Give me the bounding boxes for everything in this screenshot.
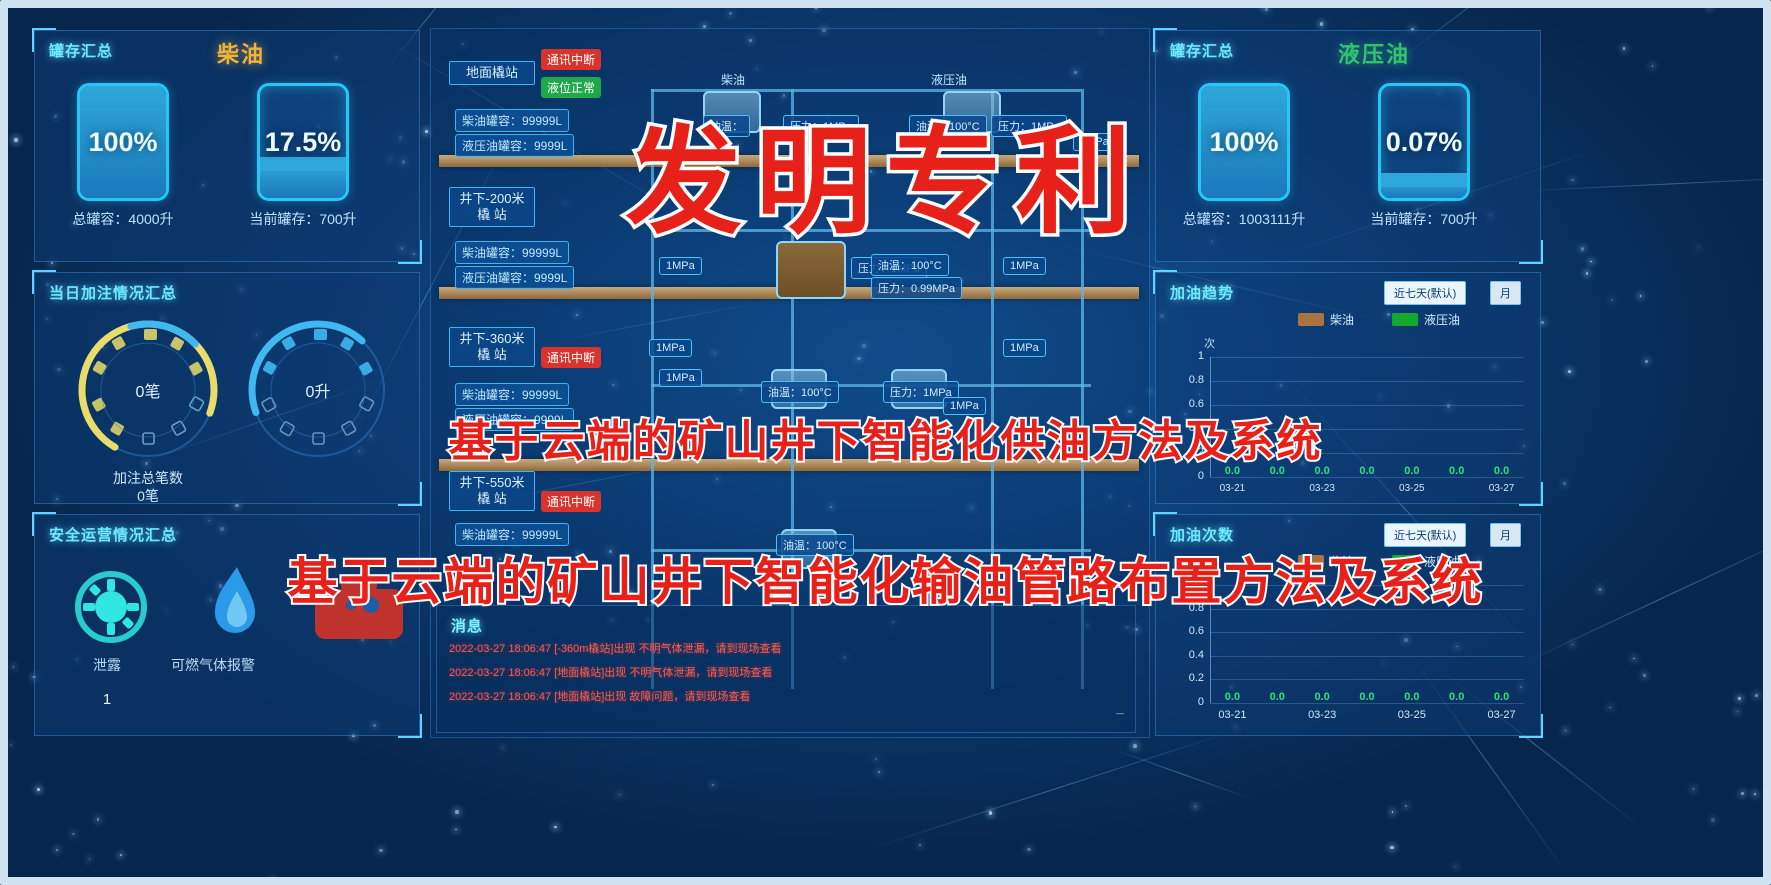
- particle: [1565, 730, 1566, 731]
- station-550m[interactable]: 井下-550米 橇 站: [449, 471, 535, 511]
- particle: [1195, 806, 1196, 807]
- ring-gauge-value: 0笔: [73, 315, 223, 465]
- refuel-summary-label: 加注总笔数: [113, 470, 183, 486]
- particle: [72, 833, 75, 836]
- tank-percent: 0.07%: [1381, 86, 1467, 198]
- tank-shape: 17.5%: [257, 83, 349, 201]
- particle: [1609, 707, 1610, 708]
- station-name: 地面橇站: [449, 61, 535, 85]
- chart-gridline: [1210, 656, 1524, 657]
- tank-shape: 100%: [77, 83, 169, 201]
- particle: [554, 826, 557, 829]
- panel-title-safety: 安全运营情况汇总: [49, 524, 177, 545]
- chart-point-label: 0.0: [1440, 465, 1474, 477]
- panel-title-refuel-trend: 加油趋势: [1170, 282, 1234, 303]
- particle: [1590, 261, 1591, 262]
- pressure-tag-3: 1MPa: [649, 339, 692, 357]
- station-status-comm-0: 通讯中断: [541, 49, 601, 70]
- light-beam: [1108, 747, 1254, 800]
- ring-gauge-refuel-volume: 0升: [243, 315, 393, 465]
- legend-label-hydraulic: 液压油: [1424, 311, 1460, 328]
- particle: [1027, 848, 1030, 851]
- tank-caption: 总罐容：4000升: [72, 209, 173, 229]
- particle: [89, 858, 91, 860]
- panel-title-diesel-tank: 罐存汇总: [49, 40, 113, 61]
- light-beam: [1511, 176, 1771, 192]
- particle: [878, 771, 879, 772]
- station-name: 井下-360米 橇 站: [449, 327, 535, 367]
- watermark-title: 发明专利: [626, 88, 1146, 256]
- range-button-week-trend[interactable]: 近七天(默认): [1384, 281, 1466, 305]
- particle: [1711, 818, 1715, 822]
- legend-label-diesel: 柴油: [1330, 311, 1354, 328]
- particle: [1611, 299, 1613, 301]
- gear-icon: [71, 567, 143, 639]
- legend-item-hydraulic[interactable]: 液压油: [1392, 311, 1460, 328]
- panel-messages: 消息 2022-03-27 18:06:47 [-360m橇站]出现 不明气体泄…: [436, 605, 1136, 733]
- panel-diesel-tank-summary: 罐存汇总 柴油 100% 总罐容：4000升 17.5% 当前罐存：700升: [34, 30, 420, 262]
- particle: [14, 138, 18, 142]
- chart-xtick: 03-27: [1479, 709, 1525, 721]
- chart-gridline: [1210, 357, 1524, 358]
- chart-point-label: 0.0: [1485, 465, 1519, 477]
- panel-title-daily-refuel: 当日加注情况汇总: [49, 282, 177, 303]
- particle: [1581, 248, 1582, 249]
- station-200m[interactable]: 井下-200米 橇 站: [449, 187, 535, 227]
- particle: [1581, 247, 1584, 250]
- particle: [1693, 788, 1694, 789]
- chart-ytick: 0.2: [1178, 672, 1204, 684]
- legend-swatch-hydraulic: [1392, 313, 1418, 326]
- tank-gauge-hydraulic-current: 0.07% 当前罐存：700升: [1378, 83, 1470, 201]
- particle: [1652, 65, 1653, 66]
- chart-xtick: 03-25: [1389, 709, 1435, 721]
- particle: [1640, 295, 1642, 297]
- panel-subject-diesel: 柴油: [217, 37, 265, 69]
- chart-xtick: 03-27: [1479, 483, 1525, 494]
- particle: [919, 844, 921, 846]
- chart-ytick: 0.8: [1178, 374, 1204, 386]
- station-status-comm-3: 通讯中断: [541, 491, 601, 512]
- particle: [729, 12, 732, 15]
- particle: [1572, 644, 1573, 645]
- particle: [97, 818, 99, 820]
- chart-point-label: 0.0: [1395, 465, 1429, 477]
- panel-refuel-trend-chart: 加油趋势 近七天(默认) 月 柴油 液压油 次 00.20.40.60.810.…: [1155, 272, 1541, 504]
- panel-title-hydraulic-tank: 罐存汇总: [1170, 40, 1234, 61]
- tank-percent: 100%: [80, 86, 166, 198]
- particle: [51, 262, 52, 263]
- particle: [1390, 846, 1393, 849]
- message-item: 2022-03-27 18:06:47 [地面橇站]出现 故障问题，请到现场查看: [449, 688, 750, 704]
- particle: [1698, 247, 1699, 248]
- chart-gridline: [1210, 381, 1524, 382]
- particle: [989, 811, 992, 814]
- particle: [1741, 792, 1744, 795]
- vessel-label-diesel: 柴油: [721, 71, 745, 88]
- vessel-readout-3-1: 压力：0.99MPa: [871, 277, 962, 299]
- range-button-month-count[interactable]: 月: [1490, 523, 1521, 547]
- particle: [1455, 866, 1456, 867]
- tank-caption: 当前罐存：700升: [249, 209, 356, 229]
- panel-subject-hydraulic: 液压油: [1338, 37, 1410, 69]
- safety-label-gas-alarm: 可燃气体报警: [143, 655, 283, 675]
- tank-percent: 17.5%: [260, 86, 346, 198]
- panel-daily-refuel-summary: 当日加注情况汇总: [34, 272, 420, 504]
- station-status-comm-2: 通讯中断: [541, 347, 601, 368]
- particle: [1586, 272, 1589, 275]
- panel-hydraulic-tank-summary: 罐存汇总 液压油 100% 总罐容：1003111升 0.07% 当前罐存：70…: [1155, 30, 1541, 262]
- tank-shape: 100%: [1198, 83, 1290, 201]
- particle: [10, 744, 12, 746]
- pressure-tag-2: 1MPa: [1003, 257, 1046, 275]
- chart-point-label: 0.0: [1350, 465, 1384, 477]
- station-readout-diesel-1: 柴油罐容：99999L: [455, 241, 569, 264]
- chart-ytick: 0.4: [1178, 649, 1204, 661]
- chart-ytick: 1: [1178, 350, 1204, 362]
- panel-title-messages: 消息: [451, 615, 483, 636]
- chart-xtick: 03-21: [1209, 709, 1255, 721]
- chart-gridline: [1210, 703, 1524, 704]
- particle: [37, 788, 40, 791]
- chart-point-label: 0.0: [1305, 691, 1339, 703]
- particle: [1568, 370, 1571, 373]
- particle: [1755, 694, 1758, 697]
- particle: [1633, 658, 1635, 660]
- chart-ytick: 0: [1178, 470, 1204, 482]
- pressure-tag-5: 1MPa: [659, 369, 702, 387]
- tank-shape: 0.07%: [1378, 83, 1470, 201]
- message-item: 2022-03-27 18:06:47 [-360m橇站]出现 不明气体泄漏，请…: [449, 640, 782, 656]
- station-readout-hydraulic-0: 液压油罐容：9999L: [455, 134, 574, 157]
- range-button-month-trend[interactable]: 月: [1490, 281, 1521, 305]
- particle: [1737, 711, 1738, 712]
- chart-point-label: 0.0: [1395, 691, 1429, 703]
- station-ground[interactable]: 地面橇站: [449, 61, 535, 85]
- particle: [1643, 674, 1646, 677]
- chart-point-label: 0.0: [1440, 691, 1474, 703]
- chart-gridline: [1210, 477, 1524, 478]
- particle: [1709, 7, 1710, 8]
- particle: [120, 854, 122, 856]
- particle: [1754, 793, 1756, 795]
- particle: [1645, 360, 1648, 363]
- particle: [1571, 179, 1573, 181]
- tank-percent: 100%: [1201, 86, 1287, 198]
- station-name: 井下-550米 橇 站: [449, 471, 535, 511]
- particle: [1320, 22, 1324, 26]
- legend-swatch-diesel: [1298, 313, 1324, 326]
- particle: [1133, 744, 1137, 748]
- safety-value-leak: 1: [37, 691, 177, 708]
- chart-point-label: 0.0: [1485, 691, 1519, 703]
- particle: [56, 849, 58, 851]
- pressure-tag-4: 1MPa: [1003, 339, 1046, 357]
- particle: [455, 810, 458, 813]
- chart-xtick: 03-23: [1299, 483, 1345, 494]
- particle: [1541, 321, 1544, 324]
- station-readout-hydraulic-1: 液压油罐容：9999L: [455, 266, 574, 289]
- chart-point-label: 0.0: [1350, 691, 1384, 703]
- particle: [455, 829, 457, 831]
- vessel-label-hydraulic: 液压油: [931, 71, 967, 88]
- chart-gridline: [1210, 632, 1524, 633]
- chart-xtick: 03-25: [1389, 483, 1435, 494]
- particle: [379, 849, 382, 852]
- chart-xtick: 03-23: [1299, 709, 1345, 721]
- particle: [272, 879, 273, 880]
- particle: [712, 784, 715, 787]
- tank-gauge-diesel-current: 17.5% 当前罐存：700升: [257, 83, 349, 201]
- station-360m[interactable]: 井下-360米 橇 站: [449, 327, 535, 367]
- tank-caption: 总罐容：1003111升: [1183, 209, 1305, 229]
- ring-gauge-value: 0升: [243, 315, 393, 465]
- dashboard-root: 罐存汇总 柴油 100% 总罐容：4000升 17.5% 当前罐存：700升 当…: [0, 0, 1771, 885]
- particle: [425, 130, 428, 133]
- particle: [1738, 697, 1741, 700]
- particle: [619, 794, 620, 795]
- particle: [1392, 811, 1394, 813]
- chart-xtick: 03-21: [1209, 483, 1255, 494]
- particle: [875, 758, 877, 760]
- particle: [1599, 589, 1601, 591]
- particle: [13, 666, 14, 667]
- chart-point-label: 0.0: [1215, 691, 1249, 703]
- chart-point-label: 0.0: [1260, 691, 1294, 703]
- chart-gridline: [1210, 679, 1524, 680]
- chart-ylabel-trend: 次: [1204, 335, 1215, 351]
- watermark-line-1: 基于云端的矿山井下智能化供油方法及系统: [449, 405, 1323, 469]
- message-item: 2022-03-27 18:06:47 [地面橇站]出现 不明气体泄漏，请到现场…: [449, 664, 772, 680]
- pressure-tag-1: 1MPa: [659, 257, 702, 275]
- particle: [815, 7, 817, 9]
- particle: [1405, 805, 1407, 807]
- particle: [1623, 47, 1625, 49]
- tank-gauge-diesel-capacity: 100% 总罐容：4000升: [77, 83, 169, 201]
- refuel-summary-value: 0笔: [137, 488, 159, 504]
- station-readout-diesel-0: 柴油罐容：99999L: [455, 109, 569, 132]
- pipe-horizontal-3: [651, 384, 1091, 387]
- station-readout-diesel-2: 柴油罐容：99999L: [455, 383, 569, 406]
- tank-gauge-hydraulic-capacity: 100% 总罐容：1003111升: [1198, 83, 1290, 201]
- vessel-readout-3-0: 油温：100°C: [871, 254, 949, 276]
- vessel-readout-4-0: 油温：100°C: [761, 381, 839, 403]
- watermark-line-2: 基于云端的矿山井下智能化输油管路布置方法及系统: [288, 542, 1484, 614]
- flame-icon: [197, 563, 269, 635]
- light-beam: [862, 726, 1246, 851]
- particle: [502, 747, 503, 748]
- chart-ytick: 0.6: [1178, 625, 1204, 637]
- chart-ytick: 0: [1178, 696, 1204, 708]
- legend-item-diesel[interactable]: 柴油: [1298, 311, 1354, 328]
- station-name: 井下-200米 橇 站: [449, 187, 535, 227]
- particle: [1261, 3, 1265, 7]
- ring-gauge-refuel-count: 0笔: [73, 315, 223, 465]
- particle: [1563, 482, 1566, 485]
- tank-caption: 当前罐存：700升: [1370, 209, 1477, 229]
- particle: [1265, 8, 1267, 10]
- station-status-level-0: 液位正常: [541, 77, 601, 98]
